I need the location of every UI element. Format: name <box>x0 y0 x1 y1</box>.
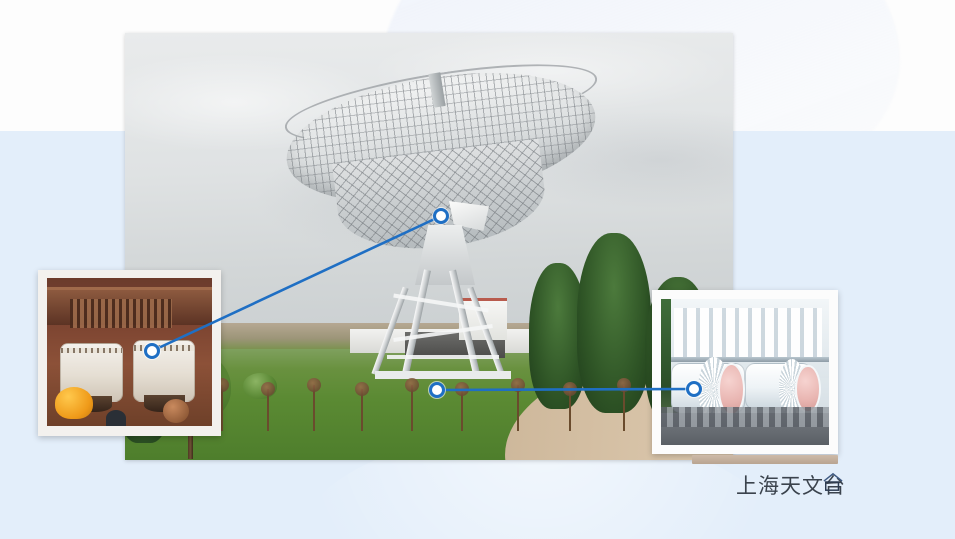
sapling-5 <box>313 385 315 431</box>
worker-head-secondary <box>106 410 126 426</box>
drive-motor-right <box>133 340 196 402</box>
cross-brace-3 <box>387 355 499 359</box>
azimuth-drive-motors-photo[interactable] <box>38 270 221 436</box>
gearbox-face-right <box>795 365 820 413</box>
sapling-4 <box>267 389 269 431</box>
base-bolt-row <box>661 407 829 427</box>
telescope-base-node[interactable] <box>429 382 445 398</box>
sapling-3 <box>221 385 223 431</box>
sapling-7 <box>411 385 413 431</box>
dish-elevation-bearing-node[interactable] <box>433 208 449 224</box>
left-inset-motor-node[interactable] <box>144 343 160 359</box>
sapling-10 <box>569 389 571 431</box>
left-inset-image <box>47 278 212 426</box>
sapling-6 <box>361 389 363 431</box>
safety-helmet-icon <box>55 387 93 419</box>
horizontal-rail <box>671 357 829 362</box>
right-inset-image <box>661 299 829 445</box>
base-platform <box>375 371 511 379</box>
motor-bolt-ring-left <box>61 348 122 354</box>
worker-head <box>163 399 189 423</box>
sapling-8 <box>461 389 463 431</box>
right-inset-gearbox-node[interactable] <box>686 381 702 397</box>
elevation-gearbox-photo[interactable] <box>652 290 838 454</box>
wall-fin-detail <box>674 308 822 358</box>
motor-bolt-ring-right <box>134 345 195 351</box>
gear-teeth-detail <box>70 299 172 329</box>
sapling-9 <box>517 385 519 431</box>
slide-canvas: 上海天文台 <box>0 0 955 539</box>
accent-bar <box>692 455 838 464</box>
conifer-right-2 <box>577 233 651 413</box>
sapling-11 <box>623 385 625 431</box>
home-icon[interactable] <box>822 472 844 492</box>
